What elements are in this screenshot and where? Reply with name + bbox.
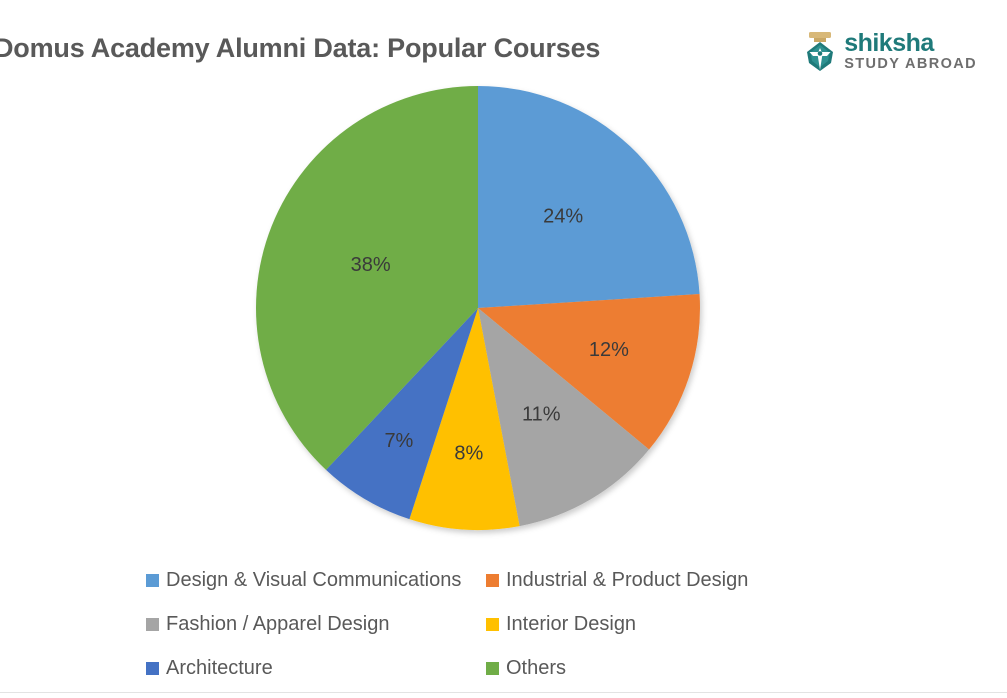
shiksha-logo[interactable]: shiksha STUDY ABROAD	[803, 30, 977, 72]
legend-item-interior-design[interactable]: Interior Design	[486, 613, 636, 636]
logo-tagline: STUDY ABROAD	[844, 57, 977, 72]
legend-label: Industrial & Product Design	[506, 569, 748, 592]
chart-legend: Design & Visual Communications Industria…	[146, 558, 846, 690]
legend-item-industrial-product-design[interactable]: Industrial & Product Design	[486, 569, 748, 592]
legend-row: Design & Visual Communications Industria…	[146, 558, 846, 602]
legend-row: Architecture Others	[146, 646, 846, 690]
legend-label: Interior Design	[506, 613, 636, 636]
logo-wordmark: shiksha STUDY ABROAD	[844, 31, 977, 72]
pie-slice-label: 11%	[522, 403, 561, 425]
legend-label: Fashion / Apparel Design	[166, 613, 389, 636]
legend-label: Others	[506, 657, 566, 680]
legend-swatch-icon	[146, 662, 159, 675]
legend-swatch-icon	[146, 574, 159, 587]
legend-item-architecture[interactable]: Architecture	[146, 657, 486, 680]
legend-label: Design & Visual Communications	[166, 569, 461, 592]
pie-slice-label: 8%	[454, 442, 483, 464]
legend-item-design-visual-communications[interactable]: Design & Visual Communications	[146, 569, 486, 592]
legend-row: Fashion / Apparel Design Interior Design	[146, 602, 846, 646]
pie-slice-label: 12%	[589, 339, 629, 361]
legend-item-fashion-apparel-design[interactable]: Fashion / Apparel Design	[146, 613, 486, 636]
pie-chart: 24%12%11%8%7%38%	[250, 80, 710, 540]
chart-page: Domus Academy Alumni Data: Popular Cours…	[0, 0, 1007, 698]
bottom-divider	[0, 692, 1007, 693]
legend-item-others[interactable]: Others	[486, 657, 566, 680]
legend-swatch-icon	[486, 574, 499, 587]
pie-slice-label: 38%	[351, 254, 391, 276]
logo-name: shiksha	[844, 31, 977, 56]
pie-slice-label: 24%	[543, 206, 583, 228]
pie-chart-svg: 24%12%11%8%7%38%	[250, 80, 710, 540]
legend-swatch-icon	[486, 618, 499, 631]
pie-slice-label: 7%	[384, 430, 413, 452]
legend-label: Architecture	[166, 657, 273, 680]
legend-swatch-icon	[146, 618, 159, 631]
page-title: Domus Academy Alumni Data: Popular Cours…	[0, 31, 714, 65]
pie-slice[interactable]	[478, 86, 700, 308]
legend-swatch-icon	[486, 662, 499, 675]
pen-nib-icon	[803, 30, 837, 72]
